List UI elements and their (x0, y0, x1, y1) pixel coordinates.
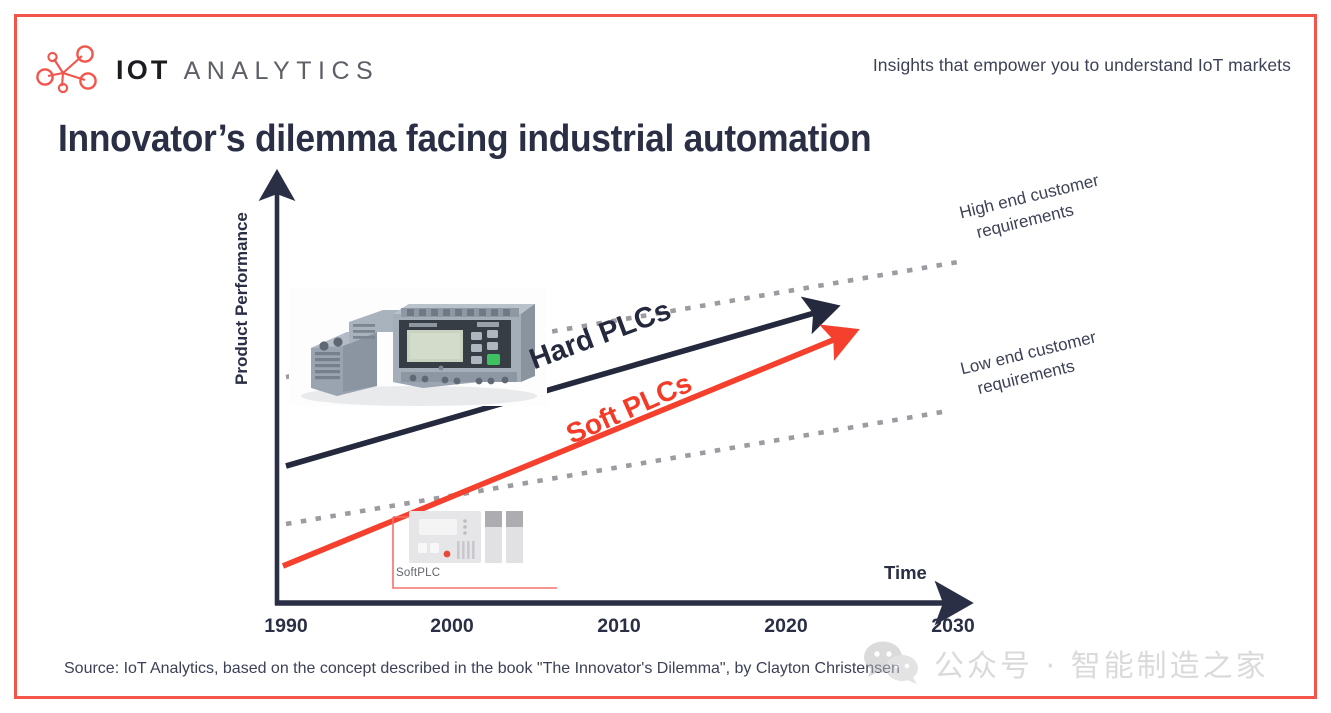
x-tick-1990: 1990 (264, 615, 307, 638)
watermark: 公众号 · 智能制造之家 (862, 641, 1269, 685)
chart-area (0, 0, 1331, 713)
wechat-icon (862, 641, 924, 685)
plc-controller-module (393, 304, 535, 388)
y-axis-label: Product Performance (232, 212, 252, 385)
x-tick-2030: 2030 (931, 615, 974, 638)
x-tick-2010: 2010 (597, 615, 640, 638)
hardware-plc-photo (289, 288, 547, 406)
watermark-text: 公众号 · 智能制造之家 (934, 641, 1269, 685)
source-note: Source: IoT Analytics, based on the conc… (64, 660, 900, 678)
softplc-caption: SoftPLC (396, 567, 440, 579)
x-axis-label: Time (884, 562, 927, 584)
softplc-diagram (385, 505, 553, 593)
x-tick-2020: 2020 (764, 615, 807, 638)
slide-canvas: IOT ANALYTICS Insights that empower you … (0, 0, 1331, 713)
x-tick-2000: 2000 (430, 615, 473, 638)
